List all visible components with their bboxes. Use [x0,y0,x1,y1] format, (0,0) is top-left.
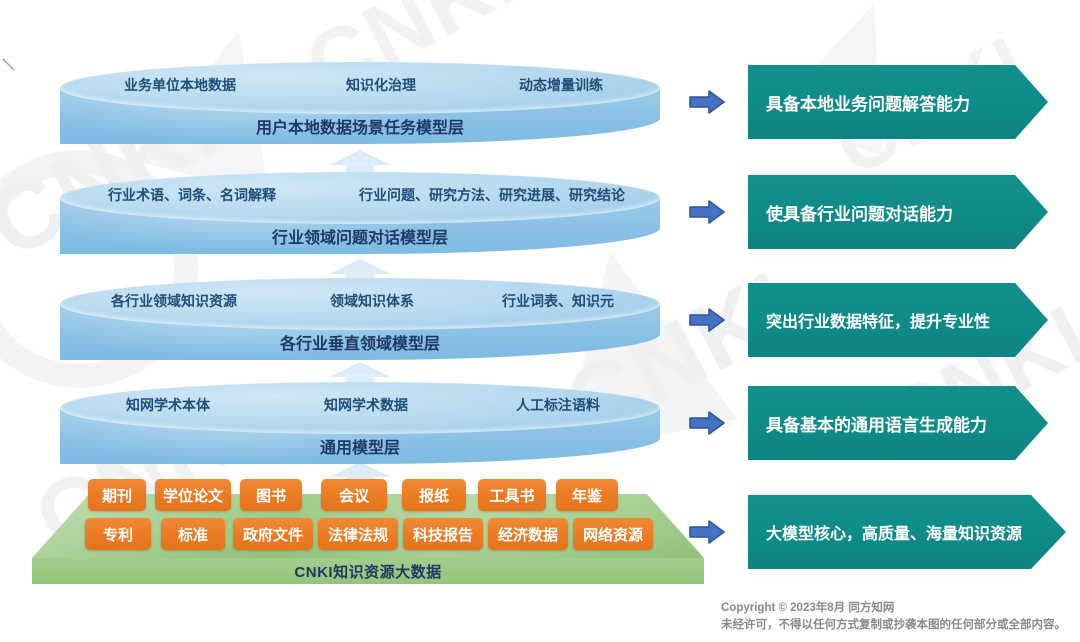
model-layer-cylinder-1[interactable]: 业务单位本地数据 知识化治理 动态增量训练 用户本地数据场景任务模型层 [60,62,660,146]
right-arrow-icon [688,519,726,545]
resource-box[interactable]: 图书 [240,479,302,511]
capability-text: 大模型核心，高质量、海量知识资源 [748,520,1022,544]
model-layer-cylinder-4[interactable]: 知网学术本体 知网学术数据 人工标注语料 通用模型层 [60,382,660,466]
layer-tag: 知网学术数据 [276,395,456,415]
capability-banner-4[interactable]: 具备基本的通用语言生成能力 [748,386,1048,460]
resource-label: 期刊 [102,485,132,506]
capability-text: 具备基本的通用语言生成能力 [748,411,987,436]
resource-label: 网络资源 [583,524,643,545]
capability-banner-2[interactable]: 使具备行业问题对话能力 [748,175,1048,249]
resource-label: 报纸 [419,485,449,506]
layer-tag: 领域知识体系 [288,291,456,311]
platform-front-label: CNKI知识资源大数据 [32,558,704,584]
copyright-line-2: 未经许可，不得以任何方式复制或抄袭本图的任何部分或全部内容。 [721,617,1066,634]
layer-tag: 人工标注语料 [456,395,660,415]
resource-label: 图书 [256,485,286,506]
platform-label-text: CNKI知识资源大数据 [294,561,441,582]
resource-label: 经济数据 [498,524,558,545]
resource-box[interactable]: 标准 [161,518,225,550]
capability-banner-3[interactable]: 突出行业数据特征，提升专业性 [748,283,1048,357]
layer-tag-list: 行业术语、词条、名词解释 行业问题、研究方法、研究进展、研究结论 [60,180,660,210]
resource-label: 年鉴 [572,485,602,506]
capability-text: 具备本地业务问题解答能力 [748,90,970,115]
resource-box[interactable]: 法律法规 [318,518,398,550]
layer-name: 通用模型层 [60,434,660,458]
capability-text: 突出行业数据特征，提升专业性 [748,308,990,332]
corner-tick-mark-icon [2,58,16,72]
layer-tag: 业务单位本地数据 [60,75,300,95]
resource-box[interactable]: 经济数据 [488,518,568,550]
resource-box[interactable]: 报纸 [402,479,466,511]
resource-box[interactable]: 科技报告 [403,518,483,550]
model-layer-cylinder-2[interactable]: 行业术语、词条、名词解释 行业问题、研究方法、研究进展、研究结论 行业领域问题对… [60,172,660,256]
resource-box[interactable]: 会议 [321,479,387,511]
resource-box[interactable]: 网络资源 [573,518,653,550]
right-arrow-icon [688,307,726,333]
resource-label: 工具书 [489,485,534,506]
layer-tag-list: 业务单位本地数据 知识化治理 动态增量训练 [60,70,660,100]
right-arrow-icon [688,410,726,436]
resource-label: 法律法规 [328,524,388,545]
resource-label: 科技报告 [413,524,473,545]
resource-box[interactable]: 政府文件 [233,518,313,550]
layer-name: 各行业垂直领域模型层 [60,330,660,354]
layer-tag: 行业问题、研究方法、研究进展、研究结论 [324,185,660,205]
diagram-canvas: CNKI CNKI CNKI CNKI CNKI CNKI 业务单位本地数据 知… [0,0,1080,642]
resource-label: 学位论文 [163,485,223,506]
layer-name: 行业领域问题对话模型层 [60,224,660,248]
resource-label: 标准 [178,524,208,545]
capability-banner-5[interactable]: 大模型核心，高质量、海量知识资源 [748,495,1066,569]
resource-box[interactable]: 专利 [85,518,151,550]
capability-text: 使具备行业问题对话能力 [748,200,953,225]
model-layer-cylinder-3[interactable]: 各行业领域知识资源 领域知识体系 行业词表、知识元 各行业垂直领域模型层 [60,278,660,362]
layer-tag: 动态增量训练 [462,75,660,95]
resource-label: 会议 [339,485,369,506]
layer-tag: 行业词表、知识元 [456,291,660,311]
copyright-line-1: Copyright © 2023年8月 同方知网 [721,600,1066,617]
resource-box[interactable]: 年鉴 [556,479,618,511]
copyright-notice: Copyright © 2023年8月 同方知网 未经许可，不得以任何方式复制或… [721,600,1066,634]
layer-tag: 各行业领域知识资源 [60,291,288,311]
layer-tag: 知网学术本体 [60,395,276,415]
capability-banner-1[interactable]: 具备本地业务问题解答能力 [748,65,1048,139]
layer-tag: 行业术语、词条、名词解释 [60,185,324,205]
layer-name: 用户本地数据场景任务模型层 [60,114,660,138]
resource-label: 专利 [103,524,133,545]
resource-label: 政府文件 [243,524,303,545]
resource-box[interactable]: 学位论文 [155,479,231,511]
right-arrow-icon [688,199,726,225]
resource-box[interactable]: 期刊 [88,479,146,511]
layer-tag: 知识化治理 [300,75,462,95]
layer-tag-list: 各行业领域知识资源 领域知识体系 行业词表、知识元 [60,286,660,316]
layer-tag-list: 知网学术本体 知网学术数据 人工标注语料 [60,390,660,420]
right-arrow-icon [688,89,726,115]
resource-box[interactable]: 工具书 [478,479,546,511]
